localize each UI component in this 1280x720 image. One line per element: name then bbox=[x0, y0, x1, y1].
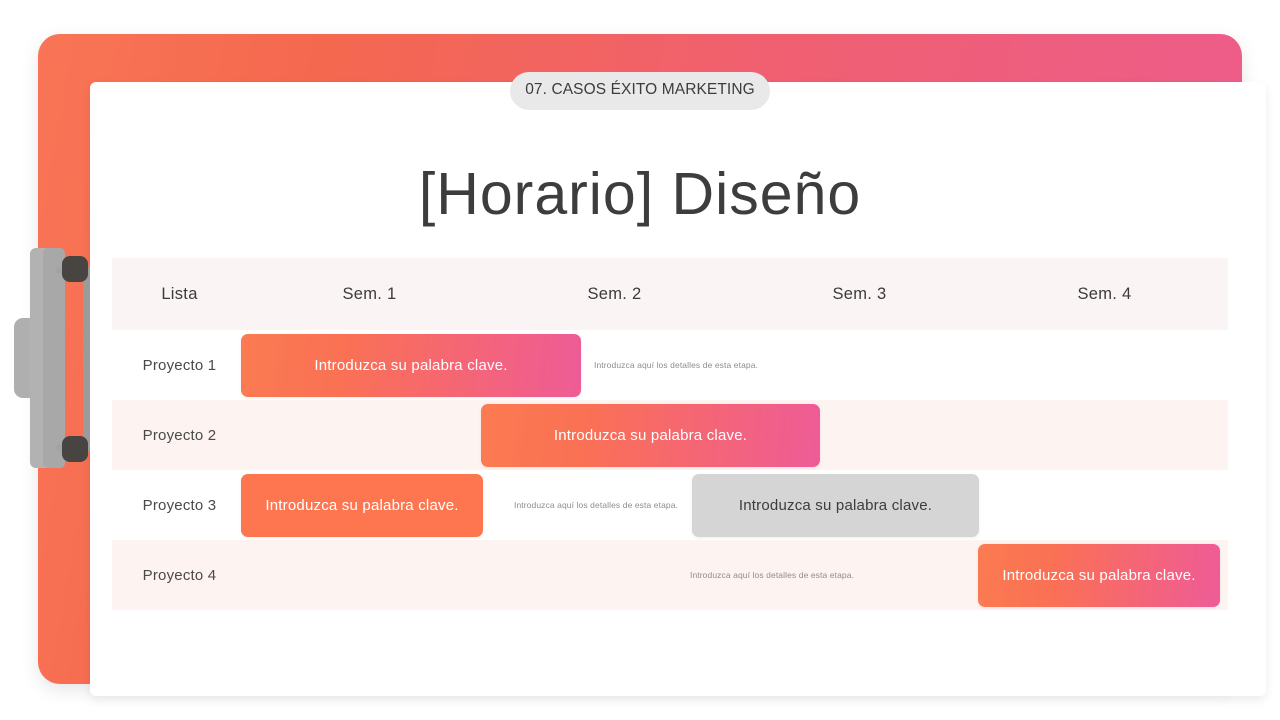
table-footer-spacer bbox=[112, 610, 1228, 658]
gantt-bar[interactable]: Introduzca su palabra clave. bbox=[692, 474, 979, 537]
table-header-row: Lista Sem. 1 Sem. 2 Sem. 3 Sem. 4 bbox=[112, 258, 1228, 330]
gantt-bar[interactable]: Introduzca su palabra clave. bbox=[481, 404, 820, 467]
column-header-lista: Lista bbox=[112, 285, 247, 304]
clipboard-clip-icon bbox=[12, 242, 112, 474]
table-body: Proyecto 1Introduzca aquí los detalles d… bbox=[112, 330, 1228, 610]
clip-corner-bottom bbox=[62, 436, 88, 462]
clip-plate-front bbox=[43, 248, 65, 468]
table-row: Proyecto 2Introduzca su palabra clave. bbox=[112, 400, 1228, 470]
clip-wire-vertical bbox=[83, 266, 90, 452]
gantt-bar[interactable]: Introduzca su palabra clave. bbox=[978, 544, 1220, 607]
gantt-bar[interactable]: Introduzca su palabra clave. bbox=[241, 474, 483, 537]
section-badge: 07. CASOS ÉXITO MARKETING bbox=[510, 72, 770, 110]
schedule-table: Lista Sem. 1 Sem. 2 Sem. 3 Sem. 4 Proyec… bbox=[112, 258, 1228, 658]
clip-corner-top bbox=[62, 256, 88, 282]
table-row: Proyecto 4Introduzca aquí los detalles d… bbox=[112, 540, 1228, 610]
table-row: Proyecto 1Introduzca aquí los detalles d… bbox=[112, 330, 1228, 400]
column-header-sem-4: Sem. 4 bbox=[982, 285, 1227, 304]
column-header-sem-2: Sem. 2 bbox=[492, 285, 737, 304]
gantt-bar[interactable]: Introduzca su palabra clave. bbox=[241, 334, 581, 397]
slide-canvas: 07. CASOS ÉXITO MARKETING [Horario] Dise… bbox=[0, 0, 1280, 720]
stage-detail-note: Introduzca aquí los detalles de esta eta… bbox=[690, 570, 854, 580]
row-label: Proyecto 4 bbox=[112, 567, 247, 584]
row-label: Proyecto 3 bbox=[112, 497, 247, 514]
table-row: Proyecto 3Introduzca aquí los detalles d… bbox=[112, 470, 1228, 540]
row-label: Proyecto 1 bbox=[112, 357, 247, 374]
stage-detail-note: Introduzca aquí los detalles de esta eta… bbox=[594, 360, 758, 370]
column-header-sem-3: Sem. 3 bbox=[737, 285, 982, 304]
page-title: [Horario] Diseño bbox=[0, 160, 1280, 228]
row-label: Proyecto 2 bbox=[112, 427, 247, 444]
stage-detail-note: Introduzca aquí los detalles de esta eta… bbox=[514, 500, 678, 510]
column-header-sem-1: Sem. 1 bbox=[247, 285, 492, 304]
